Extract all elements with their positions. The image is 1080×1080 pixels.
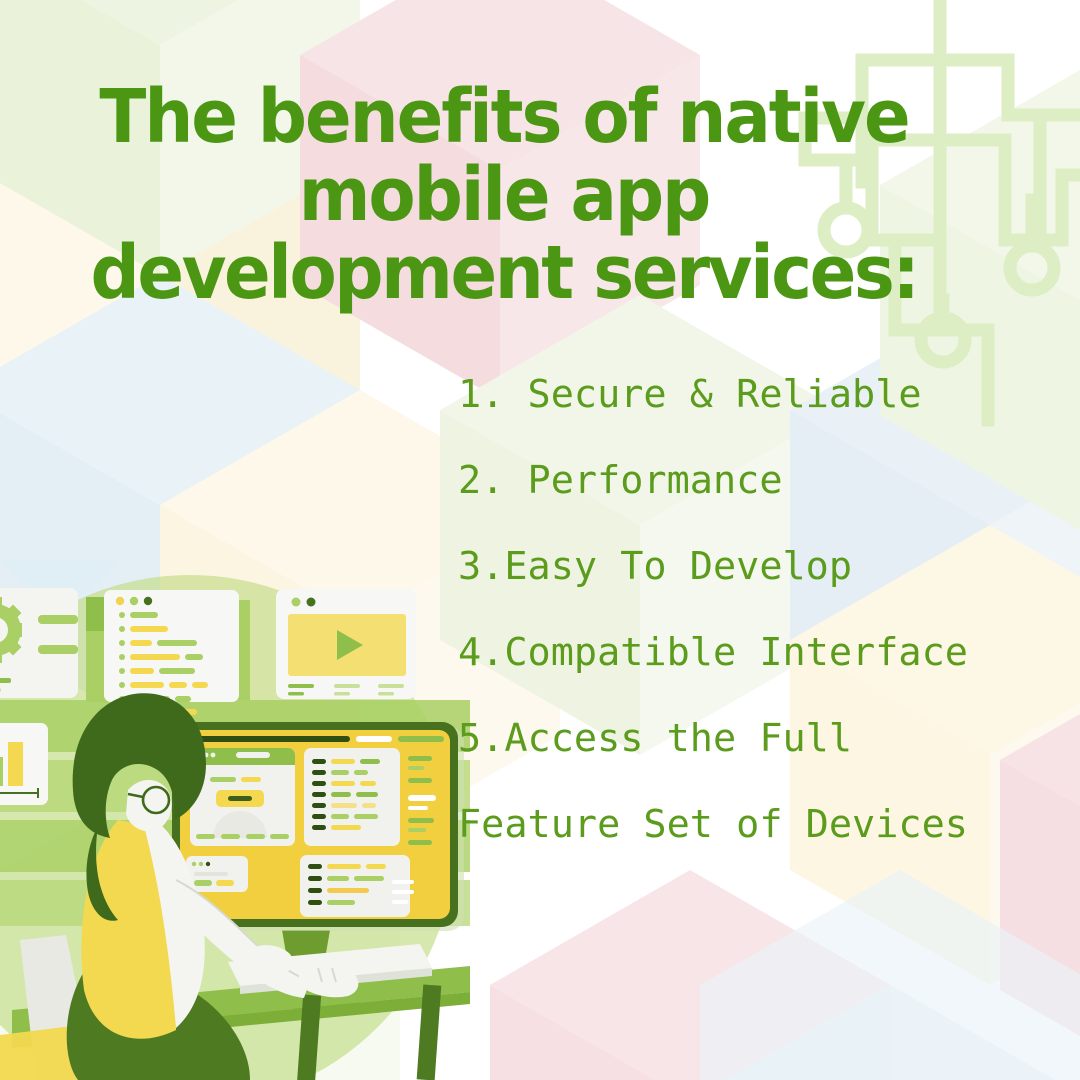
codengo-logo	[716, 890, 1066, 1055]
list-item-5-continued: Feature Set of Devices	[458, 782, 1070, 868]
list-item-3: 3.Easy To Develop	[458, 524, 1070, 610]
gear-settings-card	[0, 588, 78, 698]
list-item-2: 2. Performance	[458, 438, 1070, 524]
monitor-panel-chat	[186, 856, 248, 892]
video-player-card	[276, 589, 416, 699]
monitor-panel-code-2	[300, 855, 414, 917]
poster-canvas: The benefits of native mobile app develo…	[0, 0, 1080, 1080]
list-item-5: 5.Access the Full	[458, 696, 1070, 782]
list-item-4: 4.Compatible Interface	[458, 610, 1070, 696]
monitor-panel-code	[304, 748, 400, 846]
list-item-1: 1. Secure & Reliable	[458, 352, 1070, 438]
benefits-list: 1. Secure & Reliable 2. Performance 3.Ea…	[458, 352, 1070, 868]
bar-chart-card	[0, 723, 48, 805]
